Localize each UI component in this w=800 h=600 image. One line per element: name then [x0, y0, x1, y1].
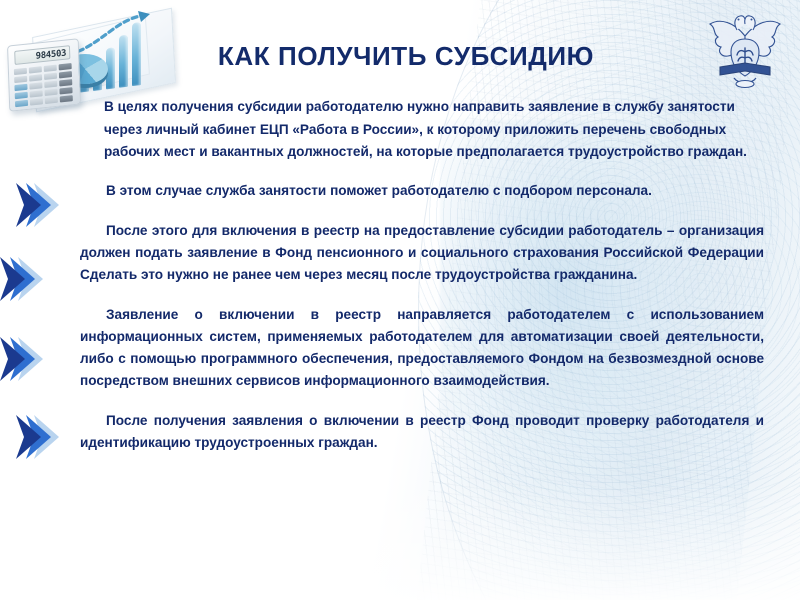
paragraph-text: В целях получения субсидии работодателю …: [104, 96, 756, 164]
page-title: КАК ПОЛУЧИТЬ СУБСИДИЮ: [196, 42, 616, 71]
spacer: [0, 202, 800, 220]
paragraph-text: После получения заявления о включении в …: [80, 410, 764, 454]
spacer: [0, 164, 800, 180]
calculator-display: 984503: [14, 45, 70, 65]
paragraph-block-step-3: Заявление о включении в реестр направляе…: [0, 304, 800, 392]
spacer: [0, 286, 800, 304]
content-area: В целях получения субсидии работодателю …: [0, 96, 800, 454]
finance-illustration: 984503: [6, 4, 182, 108]
chevron-right-icon: [0, 334, 58, 384]
paragraph-block-step-4: После получения заявления о включении в …: [0, 410, 800, 454]
paragraph-text: После этого для включения в реестр на пр…: [80, 220, 764, 286]
paragraph-block-step-2: После этого для включения в реестр на пр…: [0, 220, 800, 286]
chevron-right-icon: [12, 412, 74, 462]
russian-eagle-emblem-icon: [704, 6, 786, 92]
paragraph-text: Заявление о включении в реестр направляе…: [80, 304, 764, 392]
growth-arrow-icon: [68, 10, 152, 58]
slide-canvas: 984503: [0, 0, 800, 600]
chevron-right-icon: [0, 254, 58, 304]
paragraph-text: В этом случае служба занятости поможет р…: [80, 180, 764, 202]
background-bottom-fade: [0, 480, 800, 600]
paragraph-block-intro: В целях получения субсидии работодателю …: [0, 96, 800, 164]
paragraph-block-step-1: В этом случае служба занятости поможет р…: [0, 180, 800, 202]
spacer: [0, 392, 800, 410]
